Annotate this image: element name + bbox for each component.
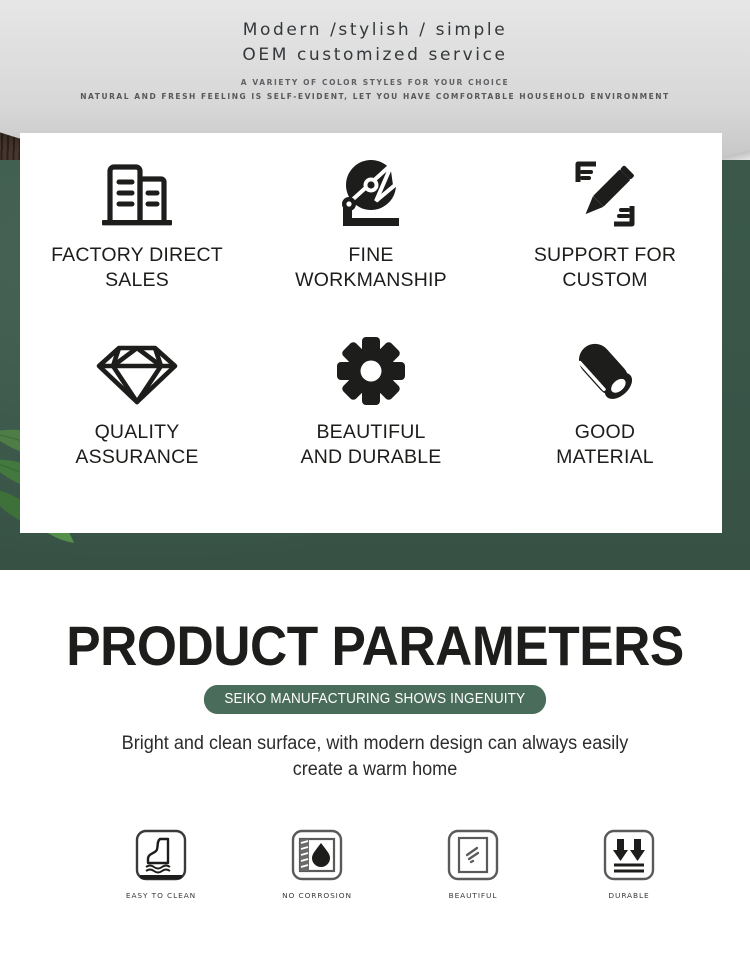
- hero-text-block: Modern /stylish / simple OEM customized …: [0, 18, 750, 101]
- feature-item-good-material[interactable]: GOOD MATERIAL: [488, 328, 722, 505]
- badge-label: DURABLE: [608, 891, 649, 900]
- grinding-machine-icon: [331, 151, 411, 237]
- feature-label: GOOD MATERIAL: [556, 420, 654, 470]
- no-corrosion-icon: [290, 828, 344, 882]
- feature-label: FINE WORKMANSHIP: [295, 243, 447, 293]
- diamond-icon: [95, 328, 179, 414]
- feature-label: SUPPORT FOR CUSTOM: [534, 243, 676, 293]
- feature-item-beautiful-and-durable[interactable]: BEAUTIFUL AND DURABLE: [254, 328, 488, 505]
- pencil-ruler-icon: [566, 151, 644, 237]
- badge-label: EASY TO CLEAN: [126, 891, 196, 900]
- feature-item-support-for-custom[interactable]: SUPPORT FOR CUSTOM: [488, 151, 722, 328]
- tagline-badge: SEIKO MANUFACTURING SHOWS INGENUITY: [204, 685, 546, 714]
- gear-icon: [335, 328, 407, 414]
- features-grid: FACTORY DIRECT SALES: [20, 151, 722, 505]
- hero-subline-1: A VARIETY OF COLOR STYLES FOR YOUR CHOIC…: [0, 78, 750, 87]
- hero-headline-1: Modern /stylish / simple: [0, 18, 750, 43]
- badge-label: BEAUTIFUL: [449, 891, 498, 900]
- easy-to-clean-icon: [134, 828, 188, 882]
- section-description: Bright and clean surface, with modern de…: [109, 731, 641, 783]
- feature-item-factory-direct-sales[interactable]: FACTORY DIRECT SALES: [20, 151, 254, 328]
- beautiful-shine-icon: [446, 828, 500, 882]
- factory-building-icon: [96, 151, 178, 237]
- feature-label: FACTORY DIRECT SALES: [51, 243, 223, 293]
- feature-item-fine-workmanship[interactable]: FINE WORKMANSHIP: [254, 151, 488, 328]
- badge-easy-to-clean[interactable]: EASY TO CLEAN: [115, 828, 207, 900]
- badge-beautiful[interactable]: BEAUTIFUL: [427, 828, 519, 900]
- feature-item-quality-assurance[interactable]: QUALITY ASSURANCE: [20, 328, 254, 505]
- badge-durable[interactable]: DURABLE: [583, 828, 675, 900]
- tube-material-icon: [568, 328, 642, 414]
- page-title: PRODUCT PARAMETERS: [30, 617, 720, 675]
- badge-no-corrosion[interactable]: NO CORROSION: [271, 828, 363, 900]
- badge-label: NO CORROSION: [282, 891, 352, 900]
- feature-badges-row: EASY TO CLEAN NO CORROSION BEAUTIF: [115, 828, 675, 900]
- hero-subline-2: NATURAL AND FRESH FEELING IS SELF-EVIDEN…: [0, 92, 750, 101]
- features-card: FACTORY DIRECT SALES: [20, 133, 722, 533]
- hero-headline-2: OEM customized service: [0, 43, 750, 68]
- durable-press-icon: [602, 828, 656, 882]
- feature-label: BEAUTIFUL AND DURABLE: [301, 420, 442, 470]
- feature-label: QUALITY ASSURANCE: [75, 420, 198, 470]
- product-parameters-section: PRODUCT PARAMETERS SEIKO MANUFACTURING S…: [0, 570, 750, 964]
